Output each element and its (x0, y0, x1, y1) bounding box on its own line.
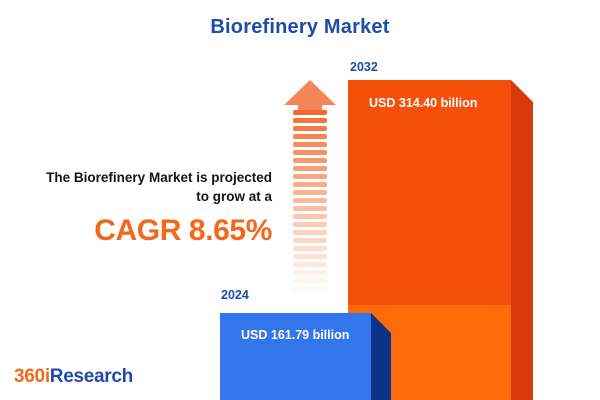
caption-line-2: to grow at a (16, 187, 272, 206)
bar-2024-front-face (220, 313, 371, 400)
arrow-stripe (293, 118, 327, 123)
arrow-stripe (293, 294, 327, 299)
bar-2024-side-face (371, 313, 391, 400)
arrow-stripe (293, 134, 327, 139)
arrow-stripe (293, 150, 327, 155)
caption-line-1: The Biorefinery Market is projected (16, 168, 272, 187)
arrow-stripe (293, 286, 327, 291)
logo-text-360: 360 (14, 366, 45, 387)
arrow-stripe (293, 270, 327, 275)
arrow-stripe (293, 110, 327, 115)
bar-value-2032: USD 314.40 billion (369, 96, 477, 110)
arrow-stripe (293, 166, 327, 171)
arrow-shaft-stripes (293, 110, 327, 298)
arrow-head-icon (284, 80, 336, 112)
logo-text-research: Research (50, 366, 133, 387)
arrow-stripe (293, 262, 327, 267)
arrow-stripe (293, 142, 327, 147)
caption-block: The Biorefinery Market is projected to g… (16, 168, 272, 248)
arrow-stripe (293, 126, 327, 131)
bar-2032-side-face (511, 80, 533, 400)
arrow-stripe (293, 222, 327, 227)
arrow-stripe (293, 238, 327, 243)
page-title: Biorefinery Market (0, 16, 600, 39)
arrow-stripe (293, 206, 327, 211)
arrow-stripe (293, 174, 327, 179)
bar-label-2024: 2024 (221, 288, 249, 302)
arrow-stripe (293, 230, 327, 235)
arrow-stripe (293, 158, 327, 163)
brand-logo[interactable]: 360iResearch (14, 366, 133, 388)
arrow-stripe (293, 182, 327, 187)
infographic-canvas: Biorefinery Market The Biorefinery Marke… (0, 0, 600, 400)
arrow-stripe (293, 214, 327, 219)
arrow-stripe (293, 246, 327, 251)
growth-arrow-icon (284, 80, 336, 298)
cagr-value: CAGR 8.65% (16, 214, 272, 248)
arrow-stripe (293, 254, 327, 259)
arrow-stripe (293, 278, 327, 283)
arrow-stripe (293, 198, 327, 203)
bar-value-2024: USD 161.79 billion (241, 328, 349, 342)
arrow-stripe (293, 190, 327, 195)
bar-label-2032: 2032 (350, 60, 378, 74)
